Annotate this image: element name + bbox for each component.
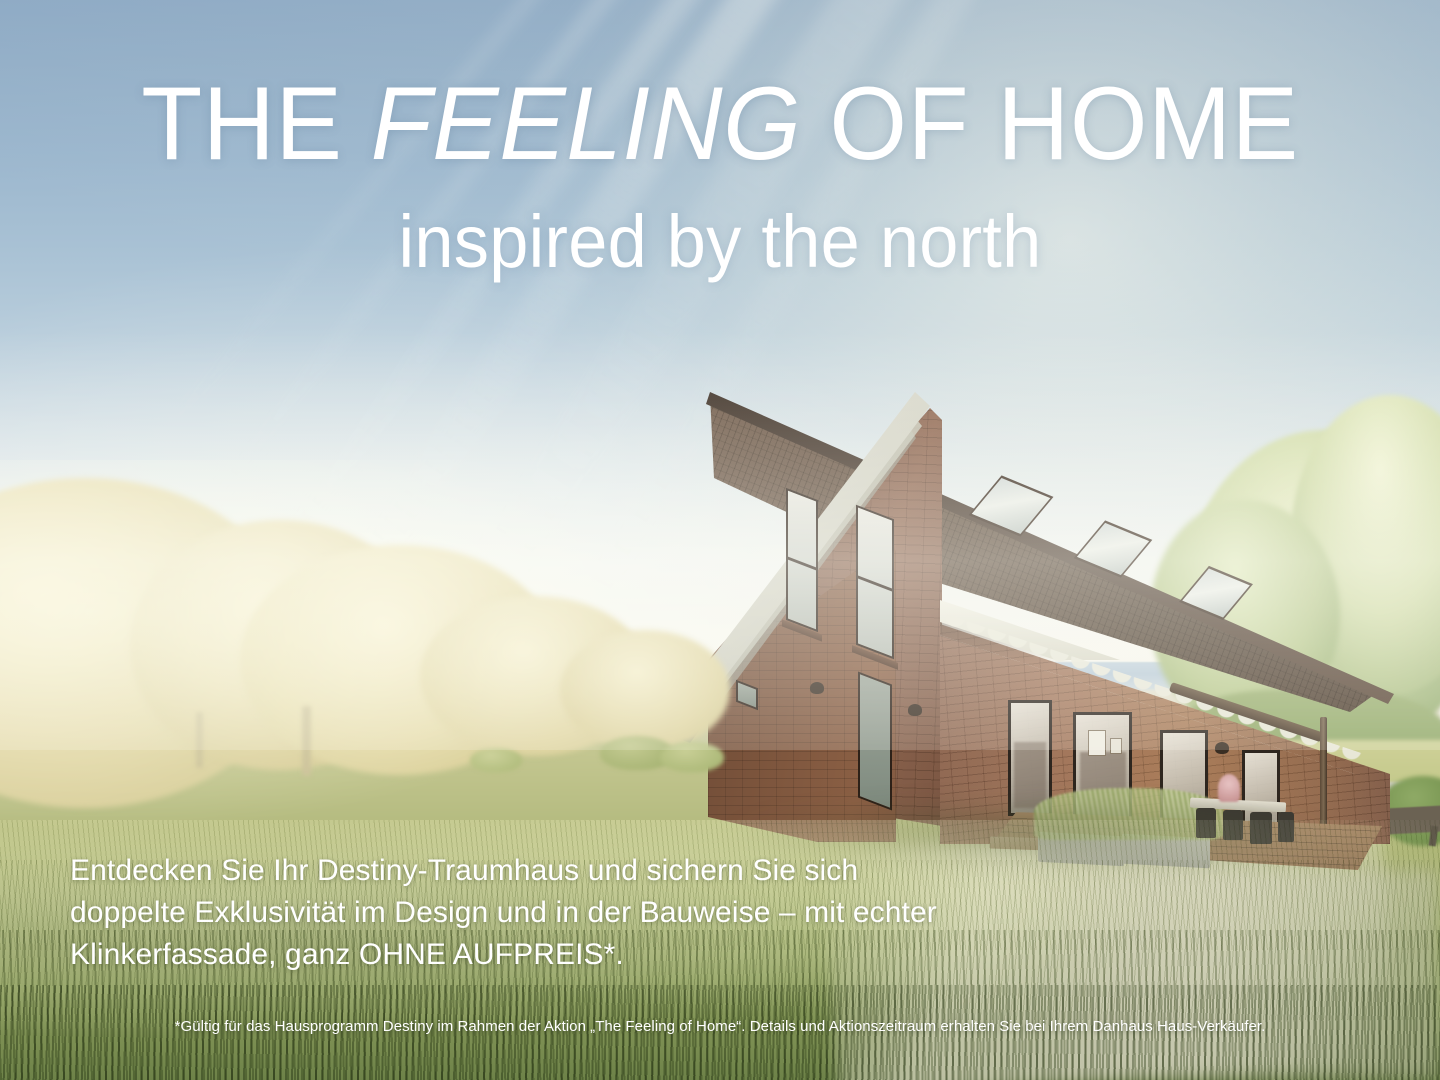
body-copy-line-2: doppelte Exklusivität im Design und in d… [70, 892, 970, 934]
body-copy: Entdecken Sie Ihr Destiny-Traumhaus und … [70, 850, 970, 976]
wall-lamp [1215, 742, 1229, 754]
tree-trunk [302, 706, 311, 776]
sand-path-secondary [1050, 870, 1440, 1080]
flower-vase [1218, 774, 1240, 802]
bush [660, 742, 724, 772]
footnote-disclaimer: *Gültig für das Hausprogramm Destiny im … [0, 1018, 1440, 1035]
wall-lamp [810, 682, 824, 694]
headline-part-2: OF HOME [801, 66, 1298, 182]
body-copy-line-3: Klinkerfassade, ganz OHNE AUFPREIS*. [70, 934, 970, 976]
tree-left-far [560, 630, 730, 750]
tree-trunk [196, 712, 203, 768]
interior-view [1014, 742, 1046, 808]
promo-poster: THE FEELING OF HOME inspired by the nort… [0, 0, 1440, 1080]
bush [470, 748, 522, 772]
headline-part-1: THE [141, 66, 370, 182]
house [690, 382, 1390, 852]
subheadline: inspired by the north [36, 203, 1404, 281]
gable-window-lower [858, 671, 892, 810]
wall-art [1088, 730, 1106, 756]
wall-art [1110, 738, 1122, 754]
wall-lamp [908, 704, 922, 716]
headline: THE FEELING OF HOME [29, 70, 1411, 179]
headline-emphasis: FEELING [371, 66, 802, 182]
body-copy-line-1: Entdecken Sie Ihr Destiny-Traumhaus und … [70, 850, 970, 892]
